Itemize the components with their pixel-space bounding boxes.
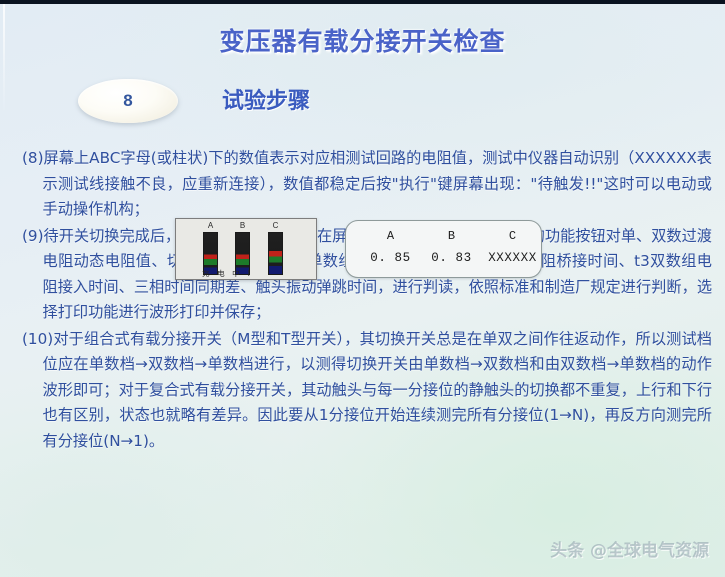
body-copy: (8)屏幕上ABC字母(或柱状)下的数值表示对应相测试回路的电阻值，测试中仪器自… <box>22 146 712 455</box>
left-edge-seam <box>3 4 5 114</box>
section-heading: 试验步骤 <box>222 83 310 115</box>
step-number-label: 8 <box>123 91 132 111</box>
top-edge-strip <box>0 0 725 4</box>
watermark-label: 头条 @全球电气资源 <box>550 536 709 561</box>
paragraph-8: (8)屏幕上ABC字母(或柱状)下的数值表示对应相测试回路的电阻值，测试中仪器自… <box>22 146 712 223</box>
paragraph-9: (9)待开关切换完成后，仪器自动进行测量并在屏幕上显示波形，操作仪器上的功能按钮… <box>22 224 712 326</box>
step-number-badge: 8 <box>78 79 178 123</box>
slide-title: 变压器有载分接开关检查 <box>0 22 725 58</box>
slide-canvas: 变压器有载分接开关检查 8 试验步骤 (8)屏幕上ABC字母(或柱状)下的数值表… <box>0 0 725 577</box>
paragraph-10: (10)对于组合式有载分接开关（M型和T型开关），其切换开关总是在单双之间作往返… <box>22 327 712 455</box>
